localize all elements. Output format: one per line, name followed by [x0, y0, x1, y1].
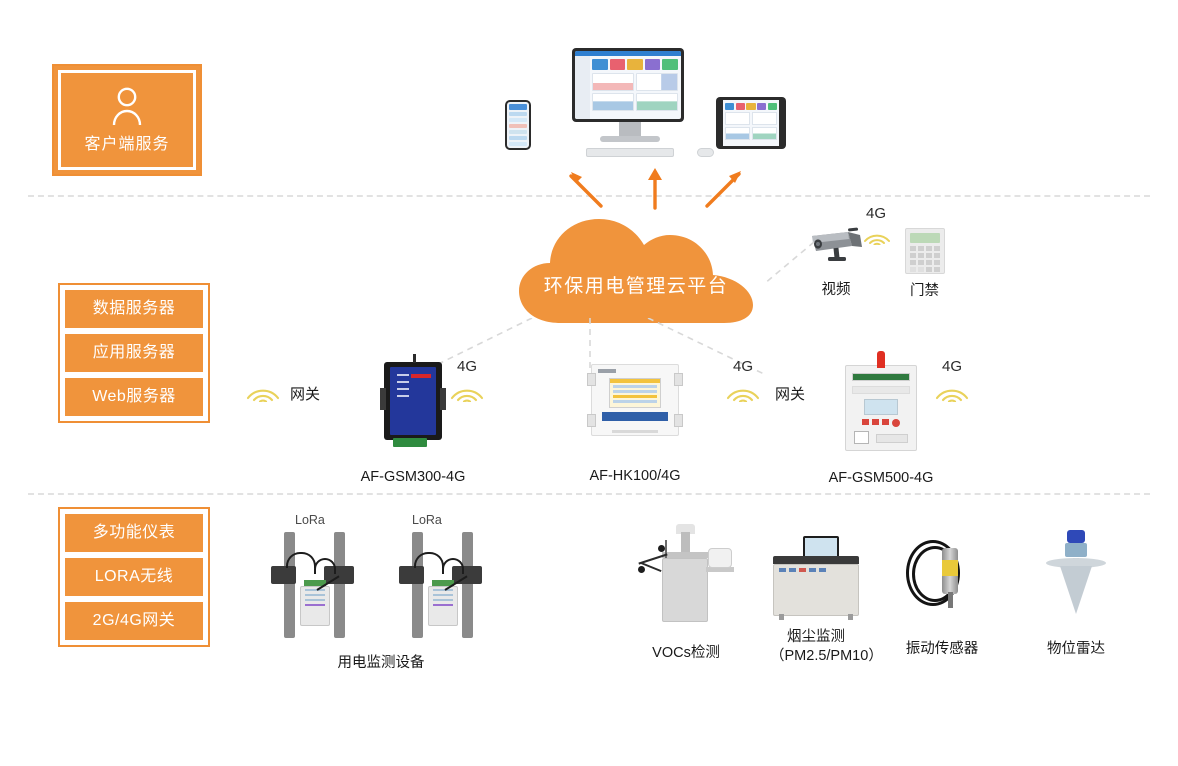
device-vibration-sensor[interactable]: 振动传感器	[898, 534, 986, 659]
keyboard-icon	[586, 148, 674, 157]
keypad-icon	[905, 228, 945, 274]
video-camera-icon	[808, 226, 864, 268]
af-gsm300-caption: AF-GSM300-4G	[354, 468, 472, 487]
power-monitoring-icon	[256, 532, 506, 638]
device-level-radar[interactable]: 物位雷达	[1036, 530, 1116, 659]
gateway-tag-right: 网关	[775, 383, 805, 404]
smartphone-icon	[505, 100, 531, 150]
gateway-tag-left: 网关	[290, 383, 320, 404]
lora-tag-2: LoRa	[412, 513, 442, 527]
device-power-monitoring[interactable]: 用电监测设备	[256, 532, 506, 673]
hk100-4g-tag: 4G	[733, 358, 753, 375]
legend-client-service[interactable]: 客户端服务	[52, 64, 202, 176]
vibration-sensor-caption: 振动传感器	[898, 640, 986, 659]
vocs-detector-caption: VOCs检测	[636, 644, 736, 663]
af-hk100-icon	[591, 364, 679, 436]
diagram-canvas: 客户端服务 数据服务器 应用服务器 Web服务器 多功能仪表 LORA无线 2G…	[0, 0, 1178, 766]
access-control-caption: 门禁	[902, 282, 947, 301]
legend-field-layer[interactable]: 多功能仪表 LORA无线 2G/4G网关	[58, 507, 210, 647]
af-gsm500-icon	[845, 365, 917, 451]
camera-4g-tag: 4G	[866, 205, 886, 222]
person-icon	[110, 86, 144, 126]
legend-server-app[interactable]: 应用服务器	[65, 334, 203, 372]
dust-monitor-caption: 烟尘监测	[770, 628, 862, 647]
af-hk100-caption: AF-HK100/4G	[577, 467, 693, 486]
legend-server-data[interactable]: 数据服务器	[65, 290, 203, 328]
af-gsm300-icon	[384, 362, 442, 440]
client-tablet[interactable]	[716, 97, 786, 149]
gsm500-4g-tag: 4G	[942, 358, 962, 375]
hk100-wifi-icon	[726, 378, 760, 402]
client-desktop[interactable]	[572, 48, 688, 157]
legend-lora-wireless[interactable]: LORA无线	[65, 558, 203, 596]
dust-monitor-subcaption: （PM2.5/PM10）	[770, 647, 862, 666]
legend-client-inner: 客户端服务	[58, 70, 196, 170]
device-af-gsm300[interactable]: AF-GSM300-4G	[354, 362, 472, 487]
device-dust-monitor[interactable]: 烟尘监测 （PM2.5/PM10）	[770, 546, 862, 666]
legend-multifunction-meter[interactable]: 多功能仪表	[65, 514, 203, 552]
client-smartphone[interactable]	[505, 100, 531, 150]
device-af-gsm500[interactable]: AF-GSM500-4G	[822, 365, 940, 488]
cloud-camera-connector	[760, 238, 816, 318]
legend-server-web[interactable]: Web服务器	[65, 378, 203, 416]
vocs-detector-icon	[638, 534, 734, 622]
power-monitoring-caption: 用电监测设备	[256, 654, 506, 673]
mouse-icon	[697, 148, 714, 157]
legend-client-label: 客户端服务	[84, 130, 169, 154]
section-divider-bottom	[28, 493, 1150, 495]
lora-tag-1: LoRa	[295, 513, 325, 527]
legend-servers[interactable]: 数据服务器 应用服务器 Web服务器	[58, 283, 210, 423]
gsm500-wifi-icon	[935, 378, 969, 402]
level-radar-caption: 物位雷达	[1036, 640, 1116, 659]
desktop-monitor-icon	[572, 48, 688, 157]
device-af-hk100[interactable]: AF-HK100/4G	[577, 364, 693, 486]
vibration-sensor-icon	[902, 534, 982, 620]
device-vocs-detector[interactable]: VOCs检测	[636, 534, 736, 663]
af-gsm500-caption: AF-GSM500-4G	[822, 469, 940, 488]
dust-monitor-icon	[773, 546, 859, 620]
tablet-icon	[716, 97, 786, 149]
level-radar-icon	[1040, 530, 1112, 618]
legend-2g4g-gateway[interactable]: 2G/4G网关	[65, 602, 203, 640]
gateway-left-wifi-icon	[246, 378, 280, 402]
cloud-shape	[517, 205, 755, 330]
device-access-control[interactable]: 门禁	[903, 228, 947, 301]
cloud-platform[interactable]: 环保用电管理云平台	[517, 205, 755, 330]
